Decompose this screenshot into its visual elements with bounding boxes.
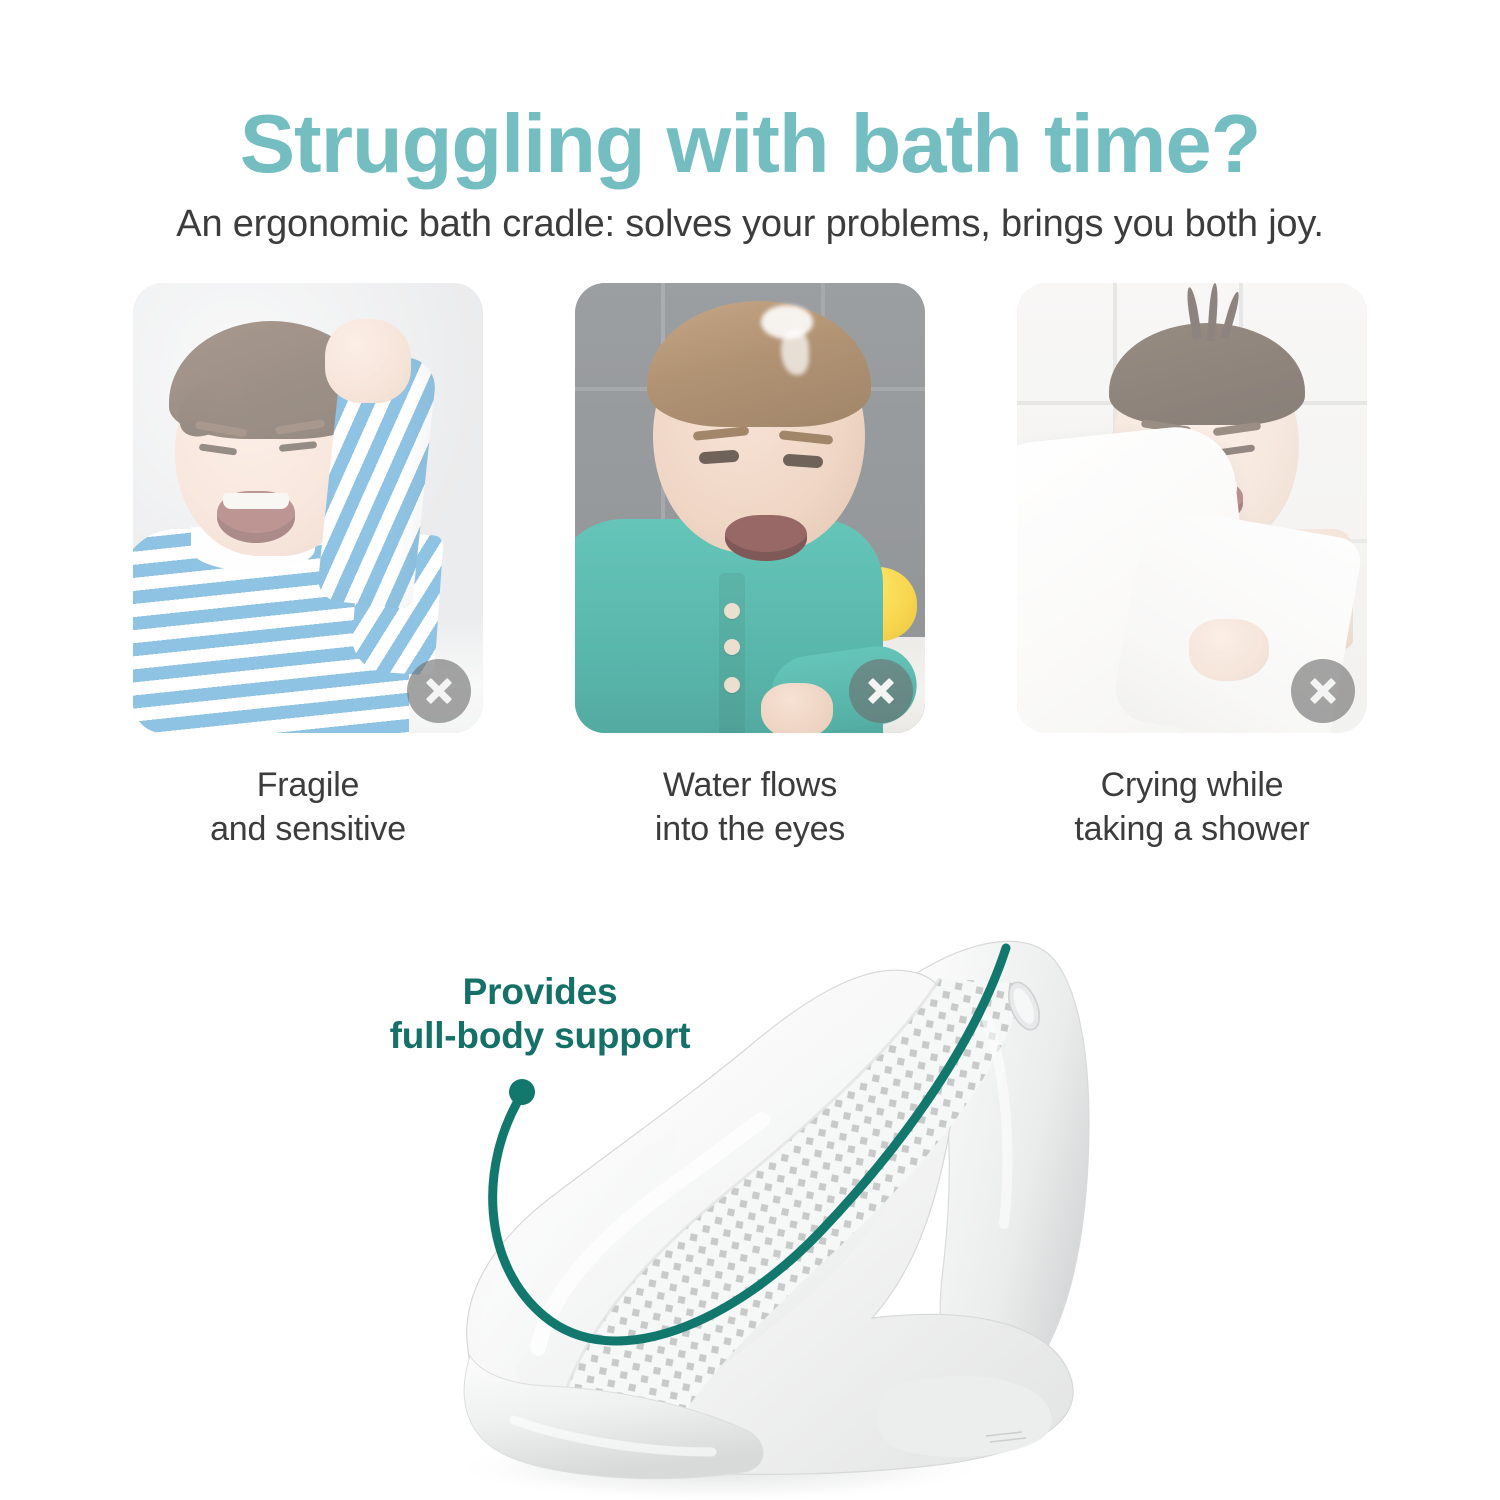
caption-line-1: Crying while [1017, 763, 1367, 807]
problem-photo-2 [575, 283, 925, 733]
problem-card-fragile: Fragile and sensitive [133, 283, 483, 851]
problem-caption-2: Water flows into the eyes [575, 763, 925, 851]
problem-card-water-in-eyes: Water flows into the eyes [575, 283, 925, 851]
problem-caption-3: Crying while taking a shower [1017, 763, 1367, 851]
bath-cradle-illustration [300, 880, 1220, 1500]
support-contour-dot [509, 1079, 535, 1105]
cradle-rear-leg [877, 1376, 1051, 1457]
x-icon [407, 659, 471, 723]
caption-line-1: Fragile [133, 763, 483, 807]
page-title: Struggling with bath time? [0, 102, 1500, 185]
problem-caption-1: Fragile and sensitive [133, 763, 483, 851]
caption-line-1: Water flows [575, 763, 925, 807]
x-icon [849, 659, 913, 723]
problem-photo-3 [1017, 283, 1367, 733]
page-subtitle: An ergonomic bath cradle: solves your pr… [0, 204, 1500, 246]
x-icon [1291, 659, 1355, 723]
product-section: Provides full-body support [0, 880, 1500, 1500]
caption-line-2: into the eyes [575, 807, 925, 851]
problem-photo-1 [133, 283, 483, 733]
caption-line-2: taking a shower [1017, 807, 1367, 851]
caption-line-2: and sensitive [133, 807, 483, 851]
problem-cards-row: Fragile and sensitive [133, 283, 1367, 851]
problem-card-crying-shower: Crying while taking a shower [1017, 283, 1367, 851]
